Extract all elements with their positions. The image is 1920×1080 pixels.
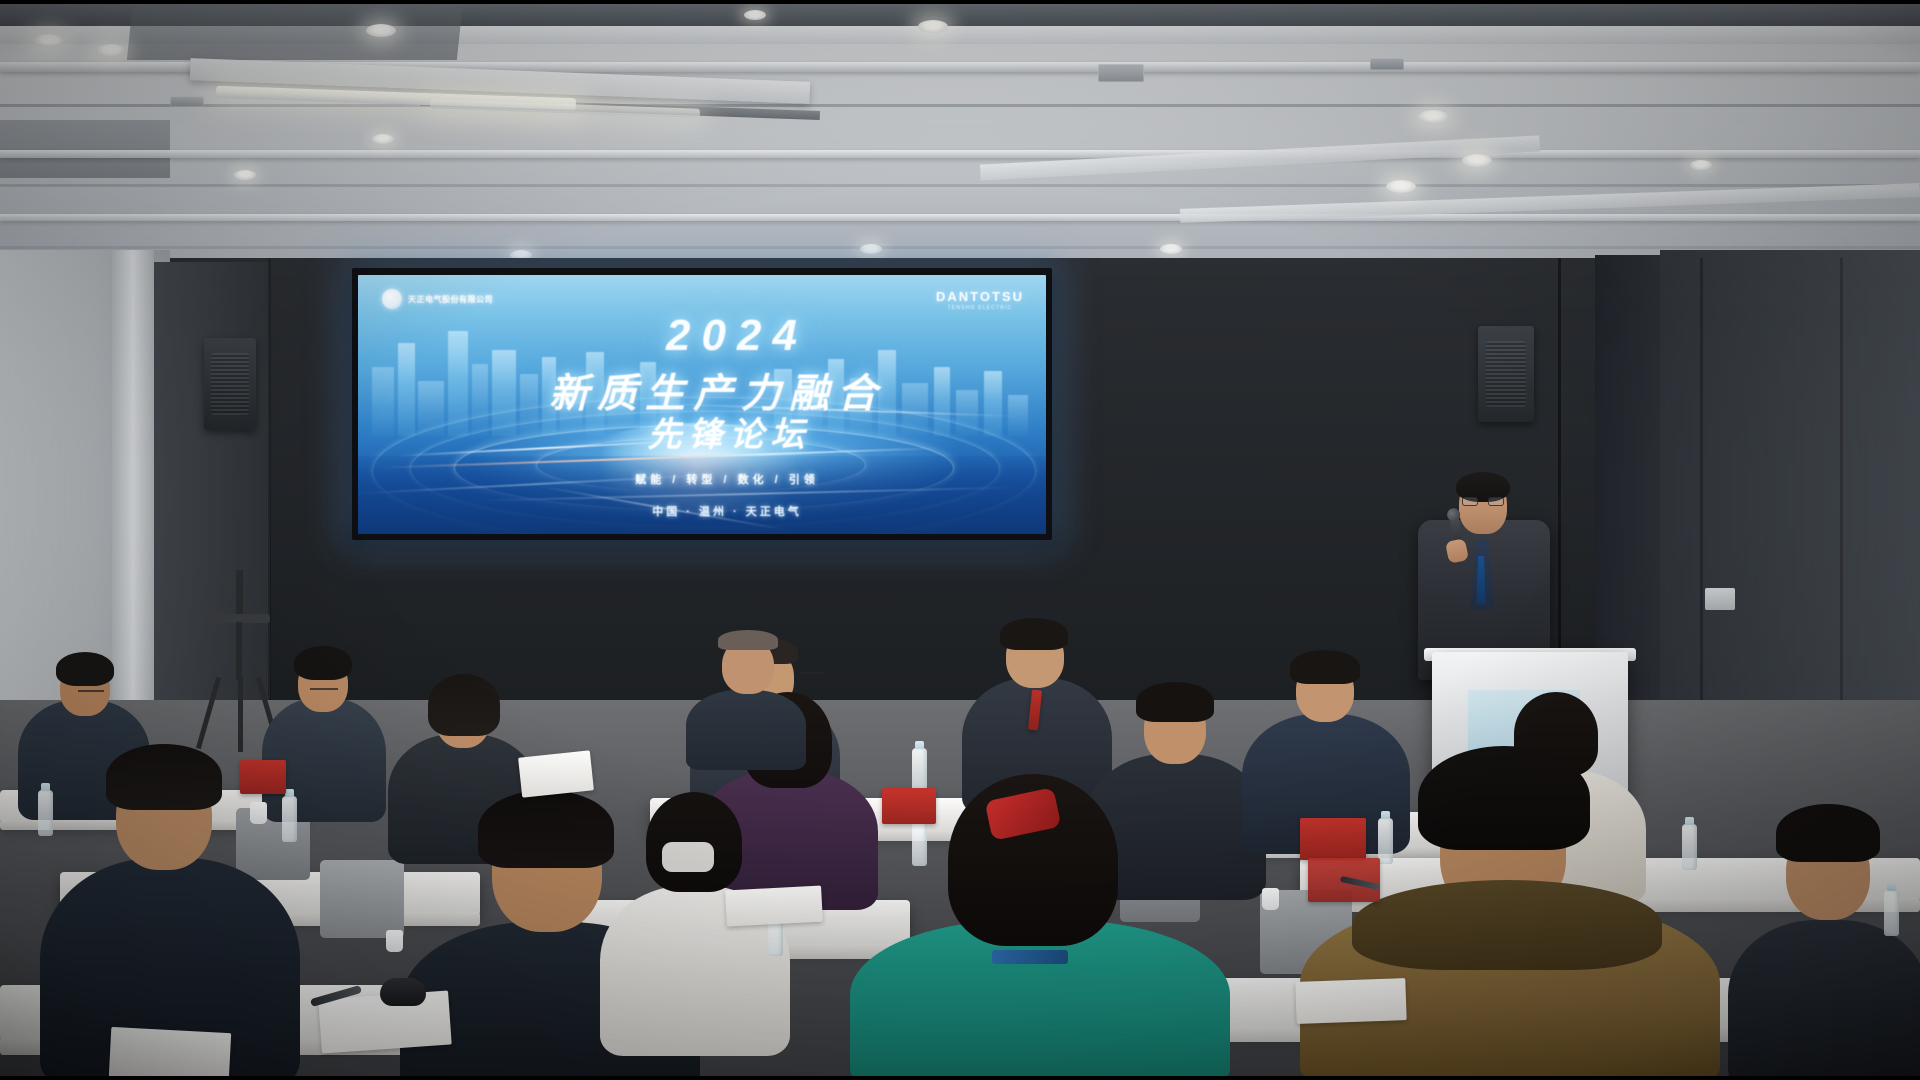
notepad (109, 1027, 231, 1080)
conference-room-photo: 天正电气股份有限公司 DANTOTSU TENSHO ELECTRIC 2024… (0, 0, 1920, 1080)
notepad (518, 750, 594, 797)
air-vent (170, 96, 204, 107)
screen-year: 2024 (358, 311, 1046, 361)
screen-left-logo-text: 天正电气股份有限公司 (408, 294, 493, 305)
water-bottle (38, 790, 53, 836)
water-bottle (1682, 824, 1697, 870)
ceiling-downlight (860, 244, 882, 254)
lanyard-strap (992, 950, 1068, 964)
dantotsu-wordmark: DANTOTSU (936, 289, 1024, 304)
water-bottle (912, 820, 927, 866)
jacket-hood (1352, 880, 1662, 970)
circular-logo-icon (382, 289, 402, 309)
right-wall-panel (1660, 250, 1920, 730)
red-gift-box (240, 760, 286, 794)
red-gift-box (1300, 818, 1366, 860)
ceiling-downlight (1386, 180, 1416, 193)
water-bottle (1884, 890, 1899, 936)
wall-loudspeaker (204, 338, 256, 430)
computer-mouse (380, 978, 426, 1006)
ceiling-downlight (744, 10, 766, 20)
ceiling-downlight (234, 170, 256, 180)
wall-control-plate (1705, 588, 1735, 610)
paper-cup (250, 802, 267, 824)
water-bottle (282, 796, 297, 842)
ceiling-downlight (372, 134, 394, 144)
screen-tagline: 赋能 / 转型 / 数化 / 引领 (358, 471, 1046, 487)
led-presentation-screen[interactable]: 天正电气股份有限公司 DANTOTSU TENSHO ELECTRIC 2024… (352, 268, 1052, 540)
audience-person (686, 630, 806, 750)
ceiling-downlight (34, 34, 64, 47)
paper-cup (1262, 888, 1279, 910)
face-mask (662, 842, 714, 872)
speaker-glasses-icon (1462, 497, 1504, 506)
screen-right-logo: DANTOTSU TENSHO ELECTRIC (936, 289, 1024, 311)
notepad (725, 886, 823, 927)
led-screen-surface: 天正电气股份有限公司 DANTOTSU TENSHO ELECTRIC 2024… (358, 275, 1046, 534)
ceiling-downlight (96, 44, 126, 57)
ceiling-downlight (1418, 110, 1448, 123)
ceiling-downlight (1690, 160, 1712, 170)
screen-title-line2: 先锋论坛 (358, 407, 1046, 456)
air-vent (1098, 64, 1144, 82)
wall-loudspeaker (1478, 326, 1534, 422)
eyeglasses-icon (310, 688, 338, 695)
screen-venue: 中国 · 温州 · 天正电气 (358, 503, 1046, 519)
paper-cup (386, 930, 403, 952)
ceiling-downlight (918, 20, 948, 33)
ceiling-downlight (1462, 154, 1492, 167)
ceiling-downlight (1160, 244, 1182, 254)
air-vent (1370, 58, 1404, 70)
water-bottle (1378, 818, 1393, 864)
notepad (1295, 978, 1406, 1024)
screen-left-logo: 天正电气股份有限公司 (382, 289, 493, 309)
chair-back (320, 860, 404, 938)
eyeglasses-icon (78, 690, 104, 697)
red-gift-box (882, 788, 936, 824)
ceiling-downlight (366, 24, 396, 37)
audience-person (1728, 800, 1920, 1080)
